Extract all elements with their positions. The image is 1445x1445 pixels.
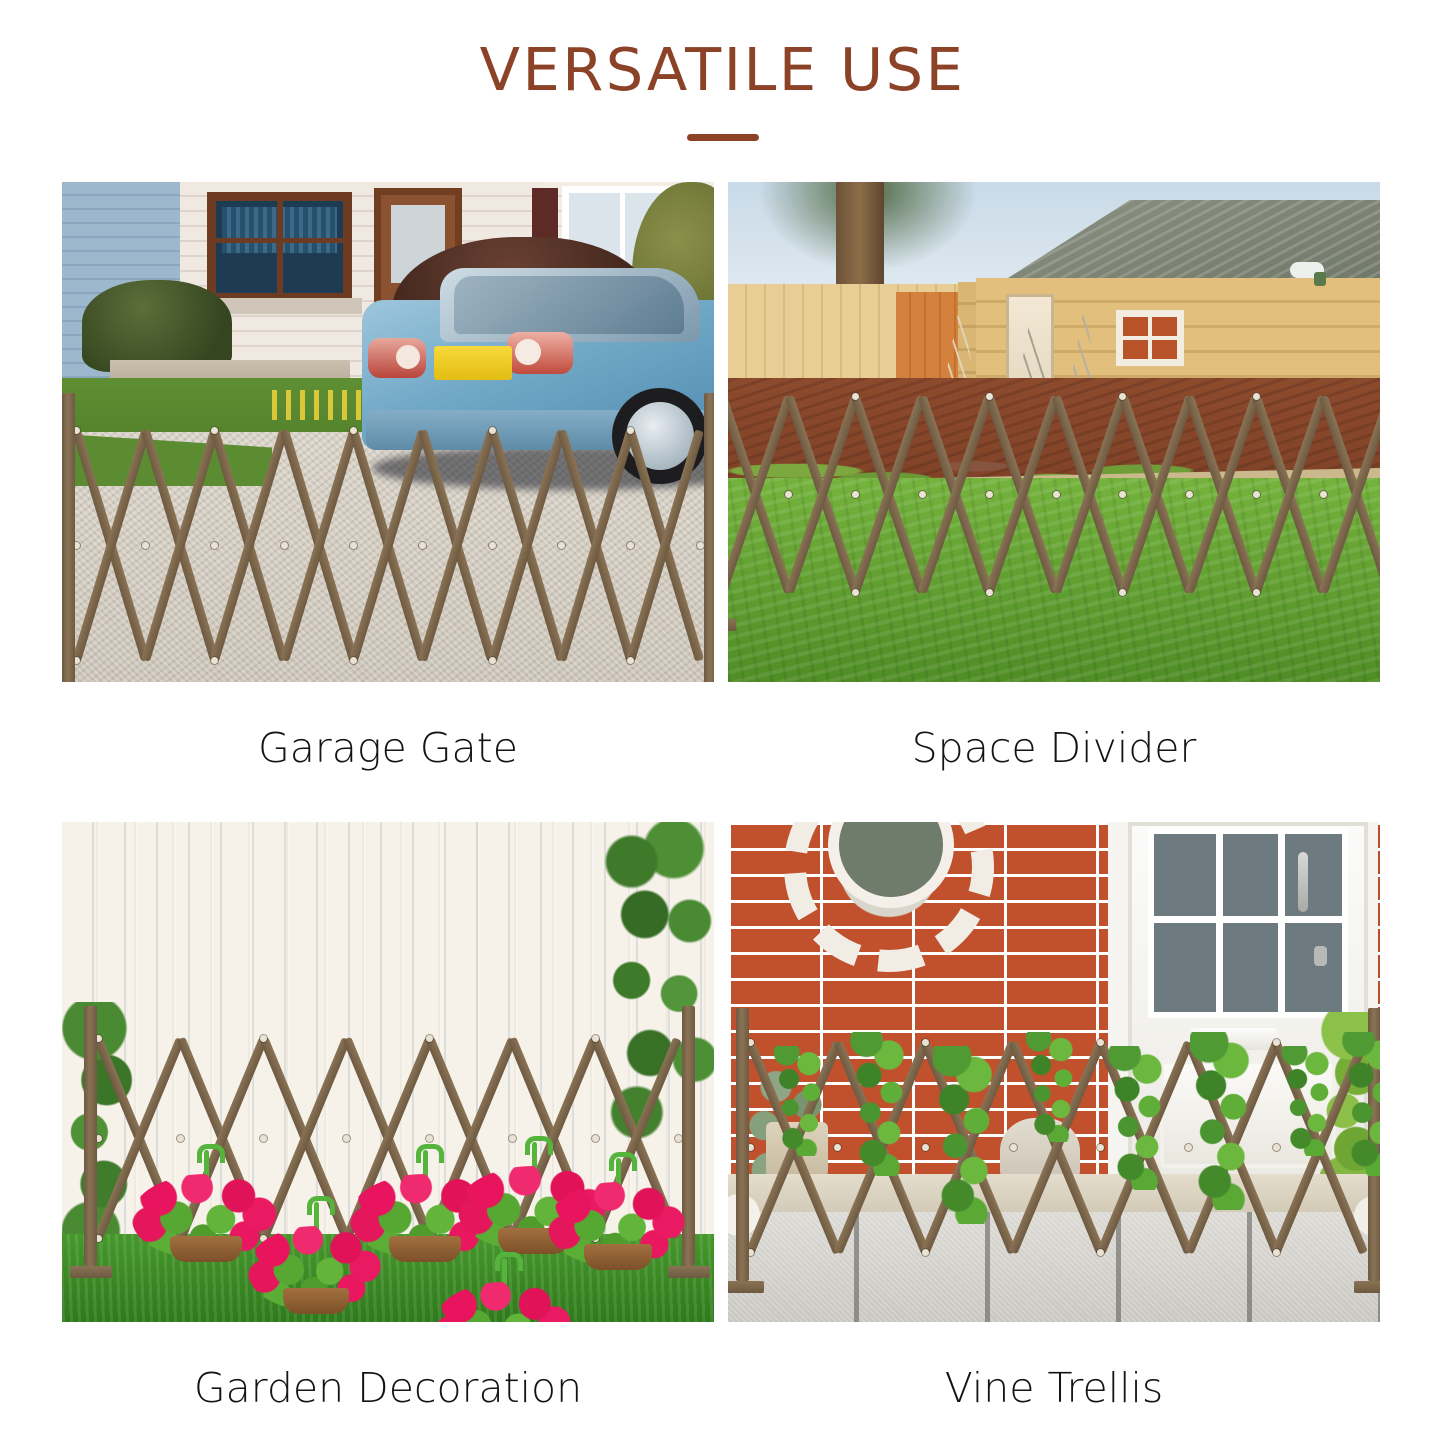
- photo-space-divider: [728, 182, 1380, 682]
- infographic-page: VERSATILE USE: [0, 0, 1445, 1445]
- panel-garage-gate: Garage Gate: [62, 182, 714, 769]
- door-glazing: [1148, 828, 1348, 1018]
- climbing-vine: [933, 1046, 995, 1224]
- climbing-vine: [1106, 1046, 1168, 1190]
- basket-pot: [170, 1236, 241, 1262]
- geranium-blooms: [434, 1282, 574, 1322]
- glazing-bar-horizontal-1: [1154, 916, 1342, 923]
- window-mullion-vertical: [277, 201, 283, 293]
- climbing-vine: [1276, 1046, 1338, 1156]
- panel-space-divider: Space Divider: [728, 182, 1380, 769]
- climbing-vine: [848, 1032, 910, 1176]
- header: VERSATILE USE: [0, 0, 1445, 165]
- title-divider: [687, 134, 759, 141]
- glazing-bar-vertical-2: [1278, 834, 1285, 1012]
- window-mullion-horizontal: [216, 238, 343, 243]
- hanging-basket-group: [62, 1054, 714, 1284]
- basket-pot: [584, 1244, 651, 1270]
- photo-garage-gate: [62, 182, 714, 682]
- door-lock: [1314, 946, 1327, 966]
- car-rear-window-inner: [454, 276, 684, 334]
- security-camera: [1290, 262, 1324, 278]
- window-mullion-horizontal: [1123, 336, 1177, 340]
- garage-window: [1116, 310, 1184, 366]
- photo-garden-decoration: [62, 822, 714, 1322]
- door-handle: [1298, 852, 1308, 912]
- panel-caption-vine-trellis: Vine Trellis: [728, 1368, 1380, 1409]
- page-title: VERSATILE USE: [0, 40, 1445, 99]
- panel-caption-garden-decoration: Garden Decoration: [62, 1368, 714, 1409]
- car-taillight-left: [368, 338, 426, 378]
- climbing-vine: [1340, 1032, 1380, 1176]
- climbing-vine: [768, 1046, 830, 1156]
- climbing-vine: [1190, 1032, 1252, 1210]
- panel-caption-garage-gate: Garage Gate: [62, 728, 714, 769]
- photo-vine-trellis: [728, 822, 1380, 1322]
- shrub-left: [82, 280, 232, 372]
- car-wheel: [612, 388, 708, 484]
- panel-vine-trellis: Vine Trellis: [728, 822, 1380, 1409]
- glazing-bar-vertical-1: [1216, 834, 1223, 1012]
- mown-lawn: [728, 478, 1380, 682]
- climbing-vine-group: [728, 1032, 1380, 1262]
- basket-pot: [283, 1288, 348, 1314]
- house-window-left: [207, 192, 352, 302]
- panel-grid: Garage Gate: [62, 182, 1384, 1424]
- panel-caption-space-divider: Space Divider: [728, 728, 1380, 769]
- hanging-flower-basket: [434, 1258, 574, 1322]
- parked-car: [362, 260, 714, 480]
- panel-garden-decoration: Garden Decoration: [62, 822, 714, 1409]
- car-taillight-right: [507, 332, 573, 374]
- climbing-vine: [1020, 1032, 1082, 1142]
- car-licence-plate: [434, 346, 512, 380]
